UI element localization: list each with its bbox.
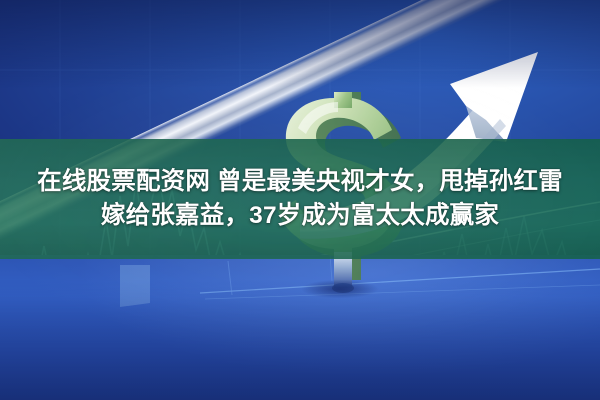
caption-text-block: 在线股票配资网 曾是最美央视才女，甩掉孙红雷 嫁给张嘉益，37岁成为富太太成赢家 <box>0 139 600 259</box>
banner-image: 在线股票配资网 曾是最美央视才女，甩掉孙红雷 嫁给张嘉益，37岁成为富太太成赢家 <box>0 0 600 400</box>
caption-line-1: 在线股票配资网 曾是最美央视才女，甩掉孙红雷 <box>37 169 563 195</box>
caption-line-2: 嫁给张嘉益，37岁成为富太太成赢家 <box>101 203 499 229</box>
